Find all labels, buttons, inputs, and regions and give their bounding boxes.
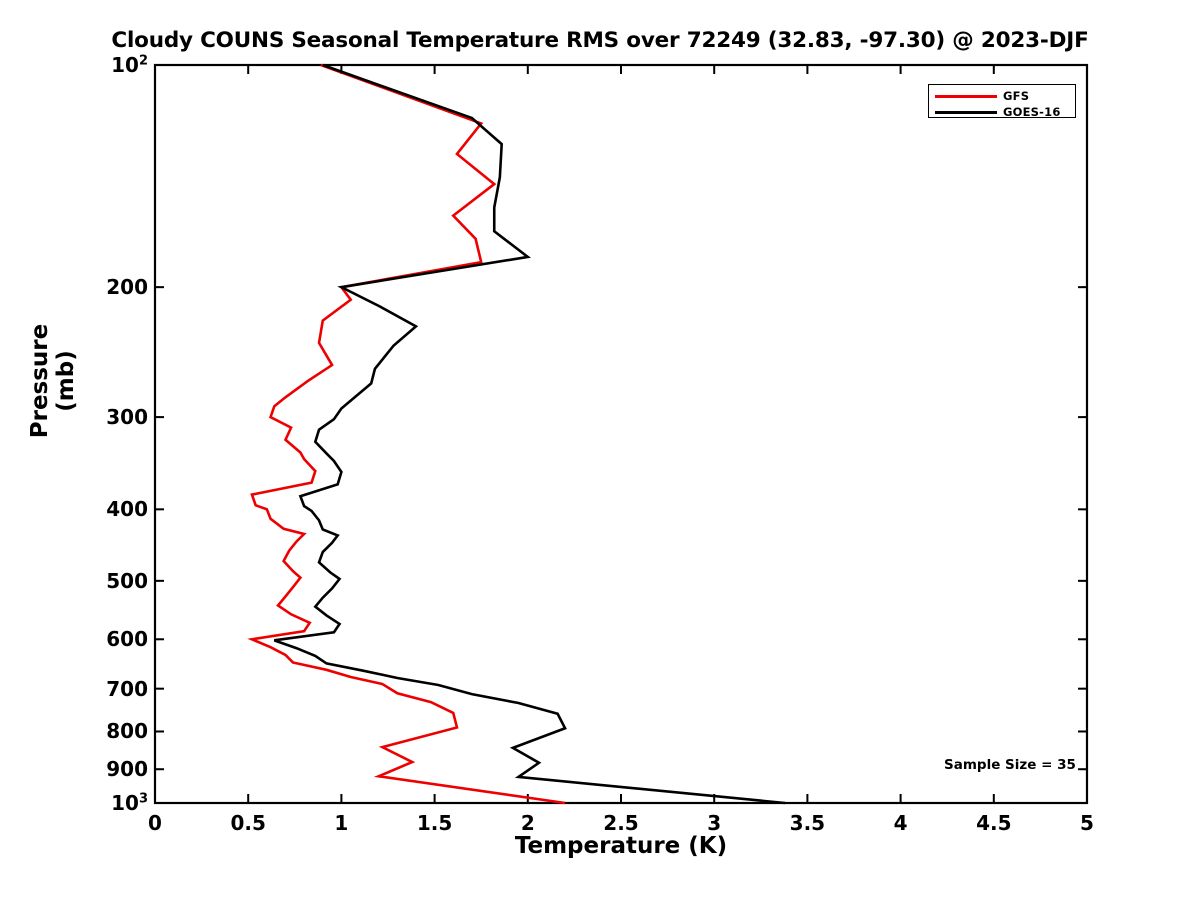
x-tick-label-0-5: 0.5: [230, 811, 265, 835]
legend-label-goes16: GOES-16: [1003, 105, 1061, 119]
y-tick-label-400: 400: [40, 497, 148, 521]
y-tick-label-800: 800: [40, 719, 148, 743]
x-tick-label-2-5: 2.5: [603, 811, 638, 835]
x-tick-label-5: 5: [1080, 811, 1094, 835]
x-tick-label-2: 2: [521, 811, 535, 835]
data-series: [252, 65, 785, 803]
axis-ticks: [155, 65, 1087, 803]
sample-size-annotation: Sample Size = 35: [944, 757, 1076, 773]
legend-item-goes16: GOES-16: [935, 105, 1061, 119]
x-tick-label-3-5: 3.5: [790, 811, 825, 835]
y-axis-label: Pressure (mb): [27, 301, 79, 461]
y-tick-label-200: 200: [40, 275, 148, 299]
x-tick-label-1: 1: [334, 811, 348, 835]
y-tick-label-600: 600: [40, 627, 148, 651]
x-axis-label: Temperature (K): [155, 833, 1087, 859]
legend-swatch-goes16: [935, 111, 997, 114]
y-tick-label-1000: 103: [40, 791, 148, 815]
series-line-goes-16: [274, 65, 785, 803]
y-tick-label-100: 102: [40, 53, 148, 77]
y-tick-label-500: 500: [40, 569, 148, 593]
y-tick-label-900: 900: [40, 757, 148, 781]
legend-item-gfs: GFS: [935, 89, 1029, 103]
x-tick-label-0: 0: [148, 811, 162, 835]
axes-frame: [155, 65, 1087, 803]
series-line-gfs: [252, 65, 565, 803]
y-tick-label-700: 700: [40, 677, 148, 701]
x-tick-label-4: 4: [894, 811, 908, 835]
x-tick-label-1-5: 1.5: [417, 811, 452, 835]
legend: GFS GOES-16: [928, 84, 1076, 118]
chart-figure: Cloudy COUNS Seasonal Temperature RMS ov…: [0, 0, 1200, 900]
x-tick-label-4-5: 4.5: [976, 811, 1011, 835]
legend-label-gfs: GFS: [1003, 89, 1029, 103]
legend-swatch-gfs: [935, 95, 997, 98]
x-tick-label-3: 3: [707, 811, 721, 835]
